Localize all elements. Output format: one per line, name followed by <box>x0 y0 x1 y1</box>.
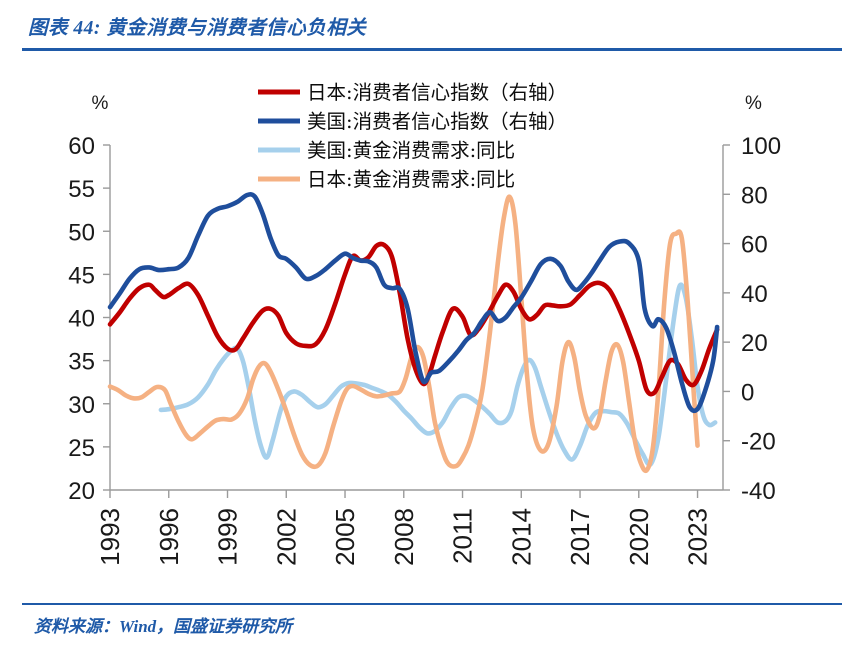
source-note: 资料来源：Wind，国盛证券研究所 <box>34 612 292 637</box>
legend-label-3[interactable]: 美国:黄金消费需求:同比 <box>307 139 515 162</box>
x-axis-tick-label: 2011 <box>448 508 478 564</box>
left-axis-tick-label: 25 <box>68 435 95 462</box>
chart-plot-area: 日本:消费者信心指数（右轴）美国:消费者信心指数（右轴）美国:黄金消费需求:同比… <box>0 56 864 596</box>
right-axis-tick-label: -20 <box>741 429 776 456</box>
right-axis-tick-label: 60 <box>741 232 768 259</box>
header-divider <box>22 48 842 51</box>
legend-label-2[interactable]: 美国:消费者信心指数（右轴） <box>307 110 567 133</box>
left-axis-tick-label: 45 <box>68 262 95 289</box>
x-axis-tick-label: 2005 <box>330 508 360 566</box>
left-axis-tick-label: 35 <box>68 349 95 376</box>
x-axis-tick-label: 2014 <box>506 508 536 566</box>
series-layer <box>110 194 717 470</box>
x-axis-tick-label: 2017 <box>565 508 595 566</box>
x-axis-tick-label: 2002 <box>271 508 301 566</box>
x-axis-tick-label: 1996 <box>154 508 184 566</box>
page-title: 图表 44: 黄金消费与消费者信心负相关 <box>28 11 366 40</box>
left-axis-tick-label: 55 <box>68 176 95 203</box>
x-axis-tick-label: 2008 <box>389 508 419 566</box>
right-axis-tick-label: 0 <box>741 379 754 406</box>
chart-svg: 日本:消费者信心指数（右轴）美国:消费者信心指数（右轴）美国:黄金消费需求:同比… <box>0 56 864 596</box>
left-axis-tick-label: 20 <box>68 478 95 505</box>
x-axis-tick-label: 1993 <box>95 508 125 566</box>
left-axis-tick-label: 60 <box>68 133 95 160</box>
legend-label-1[interactable]: 日本:消费者信心指数（右轴） <box>307 81 567 104</box>
left-axis-tick-label: 50 <box>68 219 95 246</box>
right-axis-unit-label: % <box>745 93 762 114</box>
right-axis-tick-label: 100 <box>741 133 781 160</box>
left-axis-tick-label: 40 <box>68 306 95 333</box>
right-axis-tick-label: 20 <box>741 330 768 357</box>
left-axis-tick-label: 30 <box>68 392 95 419</box>
left-axis-unit-label: % <box>92 93 109 114</box>
x-axis-tick-label: 2023 <box>683 508 713 566</box>
figure-header: 图表 44: 黄金消费与消费者信心负相关 <box>0 0 864 56</box>
right-axis-tick-label: 40 <box>741 281 768 308</box>
legend-layer: 日本:消费者信心指数（右轴）美国:消费者信心指数（右轴）美国:黄金消费需求:同比… <box>258 81 567 191</box>
right-axis-tick-label: 80 <box>741 182 768 209</box>
x-axis-tick-label: 1999 <box>213 508 243 566</box>
footer-divider <box>22 603 842 605</box>
legend-label-4[interactable]: 日本:黄金消费需求:同比 <box>307 168 515 191</box>
x-axis-tick-label: 2020 <box>624 508 654 566</box>
right-axis-tick-label: -40 <box>741 478 776 505</box>
